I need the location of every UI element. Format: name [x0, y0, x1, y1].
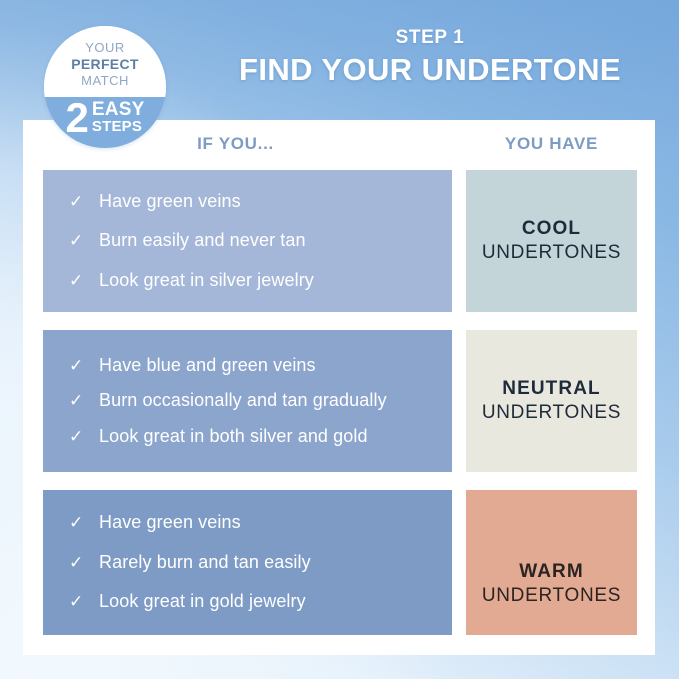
step-label: STEP 1 [230, 28, 630, 49]
badge-line-steps: STEPS [92, 119, 145, 135]
criteria-text: Burn easily and never tan [99, 228, 306, 254]
badge-line-match: MATCH [81, 73, 129, 89]
infographic-canvas: YOUR PERFECT MATCH 2 EASY STEPS STEP 1 F… [0, 0, 679, 679]
column-header-you-have: YOU HAVE [448, 134, 655, 154]
swatch-title: NEUTRAL [502, 377, 600, 401]
perfect-match-badge: YOUR PERFECT MATCH 2 EASY STEPS [44, 26, 166, 148]
swatch-title: COOL [522, 217, 581, 241]
list-item: ✓ Look great in gold jewelry [43, 589, 452, 615]
check-icon: ✓ [69, 190, 99, 214]
result-swatch-cool: COOL UNDERTONES [466, 170, 637, 312]
badge-line-your: YOUR [85, 40, 125, 56]
page-title: FIND YOUR UNDERTONE [230, 52, 630, 89]
result-swatch-neutral: NEUTRAL UNDERTONES [466, 330, 637, 472]
swatch-subtitle: UNDERTONES [482, 401, 621, 425]
check-icon: ✓ [69, 354, 99, 378]
check-icon: ✓ [69, 425, 99, 449]
criteria-text: Look great in both silver and gold [99, 424, 368, 450]
list-item: ✓ Look great in both silver and gold [43, 424, 452, 450]
criteria-box-warm: ✓ Have green veins ✓ Rarely burn and tan… [43, 490, 452, 635]
badge-line-easy: EASY [92, 100, 145, 119]
list-item: ✓ Have blue and green veins [43, 353, 452, 379]
list-item: ✓ Have green veins [43, 510, 452, 536]
badge-easy-steps: EASY STEPS [92, 98, 145, 135]
criteria-text: Have green veins [99, 189, 241, 215]
list-item: ✓ Have green veins [43, 189, 452, 215]
criteria-text: Burn occasionally and tan gradually [99, 388, 387, 414]
criteria-text: Rarely burn and tan easily [99, 550, 311, 576]
badge-top-half: YOUR PERFECT MATCH [44, 26, 166, 97]
criteria-box-neutral: ✓ Have blue and green veins ✓ Burn occas… [43, 330, 452, 472]
swatch-title: WARM [519, 560, 584, 584]
list-item: ✓ Burn easily and never tan [43, 228, 452, 254]
list-item: ✓ Burn occasionally and tan gradually [43, 388, 452, 414]
list-item: ✓ Rarely burn and tan easily [43, 550, 452, 576]
check-icon: ✓ [69, 511, 99, 535]
check-icon: ✓ [69, 590, 99, 614]
criteria-text: Look great in silver jewelry [99, 268, 314, 294]
badge-line-perfect: PERFECT [71, 56, 138, 73]
check-icon: ✓ [69, 551, 99, 575]
check-icon: ✓ [69, 229, 99, 253]
list-item: ✓ Look great in silver jewelry [43, 268, 452, 294]
page-header: STEP 1 FIND YOUR UNDERTONE [230, 28, 630, 88]
criteria-text: Have blue and green veins [99, 353, 316, 379]
criteria-text: Have green veins [99, 510, 241, 536]
criteria-box-cool: ✓ Have green veins ✓ Burn easily and nev… [43, 170, 452, 312]
swatch-subtitle: UNDERTONES [482, 241, 621, 265]
criteria-text: Look great in gold jewelry [99, 589, 306, 615]
badge-step-count: 2 [66, 98, 88, 137]
check-icon: ✓ [69, 269, 99, 293]
result-swatch-warm: WARM UNDERTONES [466, 490, 637, 635]
check-icon: ✓ [69, 389, 99, 413]
swatch-subtitle: UNDERTONES [482, 584, 621, 608]
